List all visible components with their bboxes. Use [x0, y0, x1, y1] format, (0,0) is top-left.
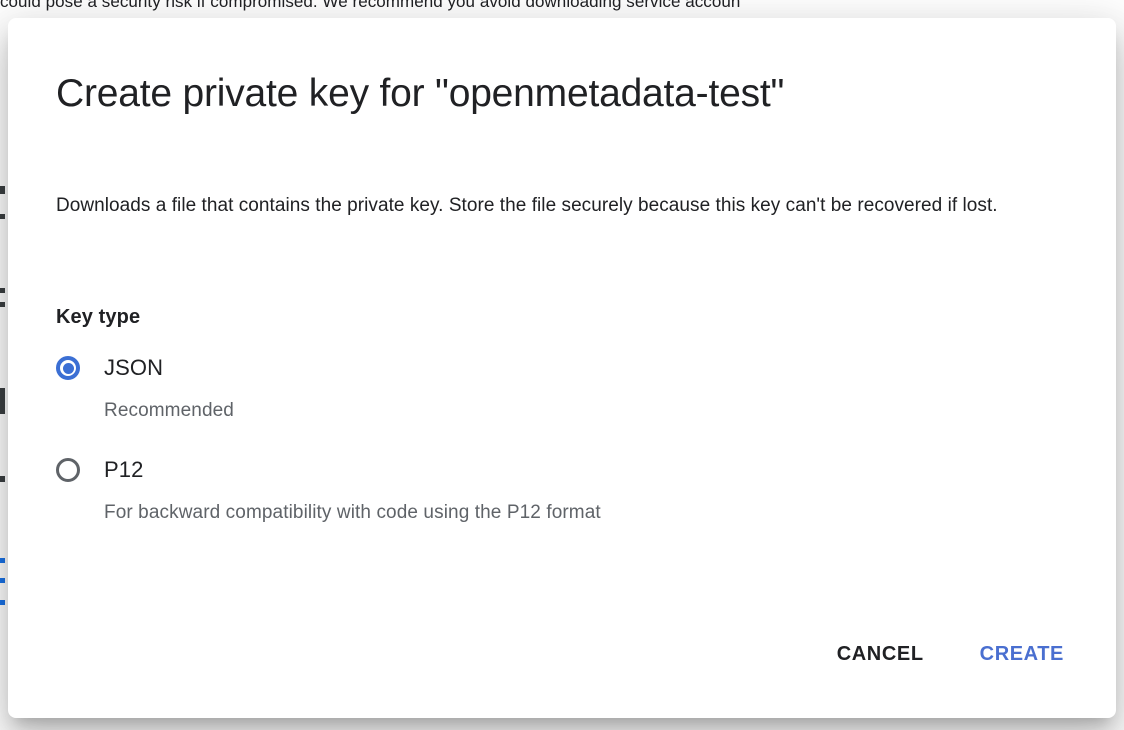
backdrop-left-rail — [0, 18, 8, 730]
radio-option-p12-hint: For backward compatibility with code usi… — [104, 501, 1056, 525]
radio-selected-icon[interactable] — [56, 356, 80, 380]
key-type-label: Key type — [56, 304, 140, 330]
dialog-description: Downloads a file that contains the priva… — [56, 186, 1046, 226]
key-type-radio-group[interactable]: JSON Recommended P12 For backward compat… — [56, 348, 1056, 525]
cancel-button[interactable]: CANCEL — [823, 634, 938, 674]
radio-option-p12[interactable]: P12 — [56, 450, 1056, 490]
dialog-title: Create private key for "openmetadata-tes… — [56, 70, 784, 118]
radio-spacer — [56, 423, 1056, 450]
radio-unselected-icon[interactable] — [56, 458, 80, 482]
radio-option-json[interactable]: JSON — [56, 348, 1056, 388]
radio-option-p12-label: P12 — [104, 457, 143, 483]
dialog-action-bar: CANCEL CREATE — [823, 634, 1078, 674]
create-button[interactable]: CREATE — [966, 634, 1078, 674]
radio-option-json-label: JSON — [104, 355, 163, 381]
radio-option-json-hint: Recommended — [104, 399, 1056, 423]
backdrop-cutoff-text: could pose a security risk if compromise… — [0, 0, 1124, 13]
create-private-key-dialog: Create private key for "openmetadata-tes… — [8, 18, 1116, 718]
